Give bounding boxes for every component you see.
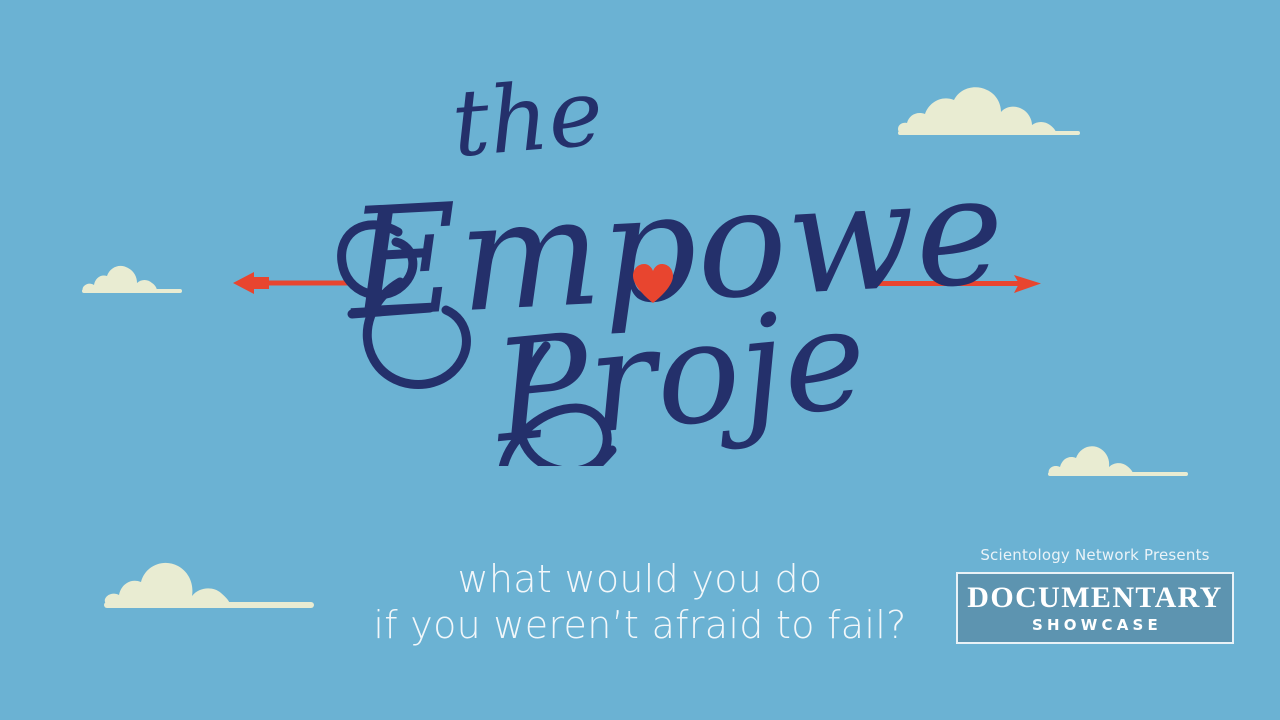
tagline: what would you do if you weren’t afraid … xyxy=(230,556,1050,648)
heart-icon xyxy=(631,263,675,305)
title-line-the: the xyxy=(448,59,607,178)
documentary-showcase-badge: Scientology Network Presents DOCUMENTARY… xyxy=(956,546,1234,644)
badge-box: DOCUMENTARY SHOWCASE xyxy=(956,572,1234,644)
poster-canvas: the Empowerment Project what would you d… xyxy=(0,0,1280,720)
tagline-line-1: what would you do xyxy=(230,556,1050,602)
presents-label: Scientology Network Presents xyxy=(956,546,1234,565)
tagline-line-2: if you weren’t afraid to fail? xyxy=(230,602,1050,648)
badge-subtitle: SHOWCASE xyxy=(1032,616,1162,634)
title-block: the Empowerment Project xyxy=(0,46,1280,466)
badge-title: DOCUMENTARY xyxy=(967,582,1222,614)
